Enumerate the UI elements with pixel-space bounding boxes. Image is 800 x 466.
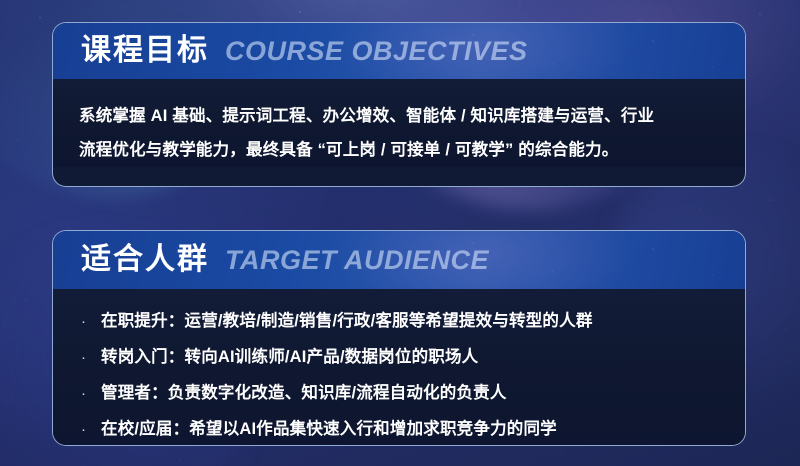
list-item: · 在校/应届：希望以AI作品集快速入行和增加求职竞争力的同学: [79, 411, 719, 446]
audience-bullet-2: 转岗入门：转向AI训练师/AI产品/数据岗位的职场人: [101, 339, 478, 375]
list-item: · 管理者：负责数字化改造、知识库/流程自动化的负责人: [79, 375, 719, 411]
card-title-en-target-audience: TARGET AUDIENCE: [225, 247, 489, 274]
card-header-target-audience: 适合人群 TARGET AUDIENCE: [53, 231, 745, 289]
card-course-objectives: 课程目标 COURSE OBJECTIVES 系统掌握 AI 基础、提示词工程、…: [52, 22, 746, 187]
bullet-dot-icon: ·: [79, 412, 101, 446]
slide-canvas: 课程目标 COURSE OBJECTIVES 系统掌握 AI 基础、提示词工程、…: [0, 0, 800, 466]
card-body-target-audience: · 在职提升：运营/教培/制造/销售/行政/客服等希望提效与转型的人群 · 转岗…: [53, 289, 745, 446]
list-item: · 转岗入门：转向AI训练师/AI产品/数据岗位的职场人: [79, 339, 719, 375]
objectives-paragraph-line-1: 系统掌握 AI 基础、提示词工程、办公增效、智能体 / 知识库搭建与运营、行业: [79, 99, 719, 133]
audience-bullet-1: 在职提升：运营/教培/制造/销售/行政/客服等希望提效与转型的人群: [101, 303, 593, 339]
bullet-dot-icon: ·: [79, 376, 101, 412]
card-title-cn-target-audience: 适合人群: [81, 245, 209, 275]
card-title-cn-course-objectives: 课程目标: [81, 36, 209, 66]
objectives-paragraph-line-2: 流程优化与教学能力，最终具备 “可上岗 / 可接单 / 可教学” 的综合能力。: [79, 133, 719, 167]
audience-bullet-3: 管理者：负责数字化改造、知识库/流程自动化的负责人: [101, 375, 507, 411]
card-header-course-objectives: 课程目标 COURSE OBJECTIVES: [53, 23, 745, 79]
card-title-en-course-objectives: COURSE OBJECTIVES: [225, 38, 528, 65]
audience-bullet-4: 在校/应届：希望以AI作品集快速入行和增加求职竞争力的同学: [101, 411, 557, 446]
bullet-dot-icon: ·: [79, 304, 101, 340]
card-body-course-objectives: 系统掌握 AI 基础、提示词工程、办公增效、智能体 / 知识库搭建与运营、行业 …: [53, 79, 745, 167]
card-target-audience: 适合人群 TARGET AUDIENCE · 在职提升：运营/教培/制造/销售/…: [52, 230, 746, 446]
list-item: · 在职提升：运营/教培/制造/销售/行政/客服等希望提效与转型的人群: [79, 303, 719, 339]
bullet-dot-icon: ·: [79, 340, 101, 376]
